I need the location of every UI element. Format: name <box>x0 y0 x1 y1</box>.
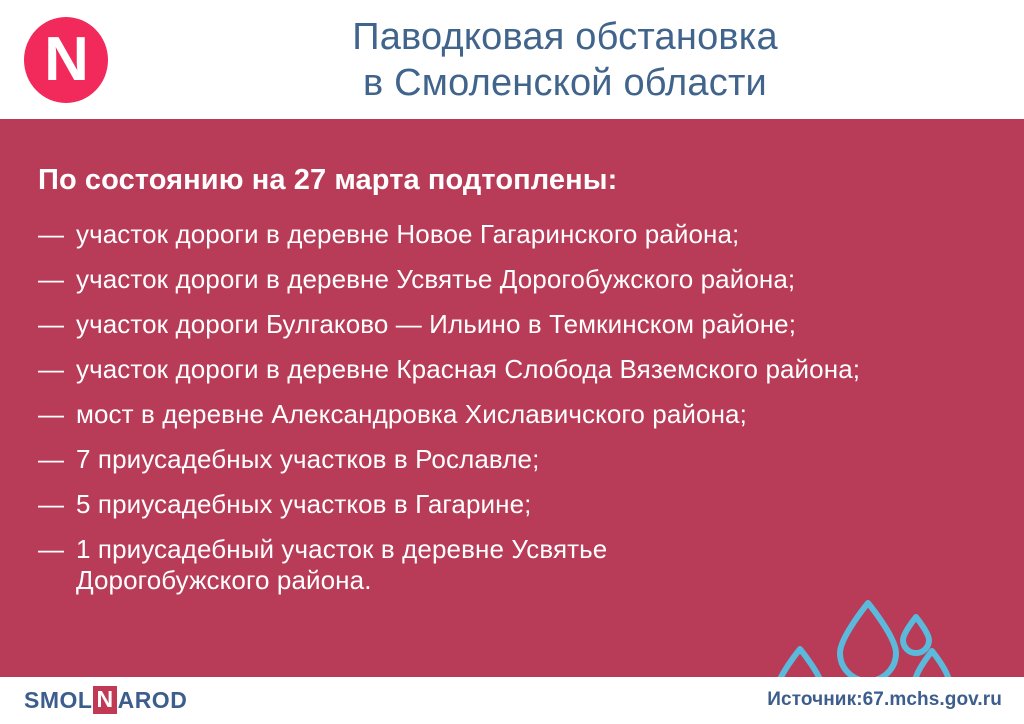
poster-header: N Паводковая обстановка в Смоленской обл… <box>0 0 1024 119</box>
droplet-small-top-right <box>903 617 929 653</box>
panel-heading: По состоянию на 27 марта подтоплены: <box>38 163 617 197</box>
list-item: — участок дороги в деревне Новое Гагарин… <box>38 219 968 250</box>
list-item: — 5 приусадебных участков в Гагарине; <box>38 489 968 520</box>
droplet-mid-right <box>915 651 949 677</box>
list-dash: — <box>38 399 64 430</box>
list-dash: — <box>38 489 64 520</box>
list-item-label: 1 приусадебный участок в деревне Усвятье… <box>76 534 776 596</box>
list-item: — 7 приусадебных участков в Рославле; <box>38 444 968 475</box>
n-circle-logo-icon: N <box>24 17 108 103</box>
list-item-label: 5 приусадебных участков в Гагарине; <box>76 489 968 520</box>
page-title: Паводковая обстановка в Смоленской облас… <box>170 14 960 106</box>
list-item: — участок дороги в деревне Усвятье Дорог… <box>38 264 968 295</box>
list-dash: — <box>38 354 64 385</box>
list-item: — мост в деревне Александровка Хиславичс… <box>38 399 968 430</box>
list-dash: — <box>38 264 64 295</box>
page-title-line-1: Паводковая обстановка <box>170 14 960 60</box>
droplet-mid-left <box>777 649 823 677</box>
list-dash: — <box>38 534 64 565</box>
list-dash: — <box>38 444 64 475</box>
list-item-label: участок дороги Булгаково — Ильино в Темк… <box>76 309 968 340</box>
source-attribution: Источник:67.mchs.gov.ru <box>767 687 1002 713</box>
list-item: — 1 приусадебный участок в деревне Усвят… <box>38 534 776 596</box>
list-dash: — <box>38 219 64 250</box>
list-item-label: мост в деревне Александровка Хиславичско… <box>76 399 968 430</box>
logo-letter: N <box>24 17 108 103</box>
logo-highlight-n: N <box>93 686 116 714</box>
list-item-label: 7 приусадебных участков в Рославле; <box>76 444 968 475</box>
poster-footer: SMOLNAROD Источник:67.mchs.gov.ru <box>0 677 1024 724</box>
list-item: — участок дороги Булгаково — Ильино в Те… <box>38 309 968 340</box>
list-dash: — <box>38 309 64 340</box>
content-panel: По состоянию на 27 марта подтоплены: — у… <box>0 119 1024 677</box>
list-item-label: участок дороги в деревне Новое Гагаринск… <box>76 219 968 250</box>
list-item-label: участок дороги в деревне Красная Слобода… <box>76 354 968 385</box>
smolnarod-logo[interactable]: SMOLNAROD <box>24 686 187 714</box>
list-item: — участок дороги в деревне Красная Слобо… <box>38 354 968 385</box>
logo-suffix: AROD <box>118 686 188 714</box>
droplet-large <box>840 603 896 677</box>
logo-prefix: SMOL <box>24 686 92 714</box>
flooded-locations-list: — участок дороги в деревне Новое Гагарин… <box>38 219 968 610</box>
page-title-line-2: в Смоленской области <box>170 60 960 106</box>
list-item-label: участок дороги в деревне Усвятье Дорогоб… <box>76 264 968 295</box>
infographic-poster: N Паводковая обстановка в Смоленской обл… <box>0 0 1024 724</box>
